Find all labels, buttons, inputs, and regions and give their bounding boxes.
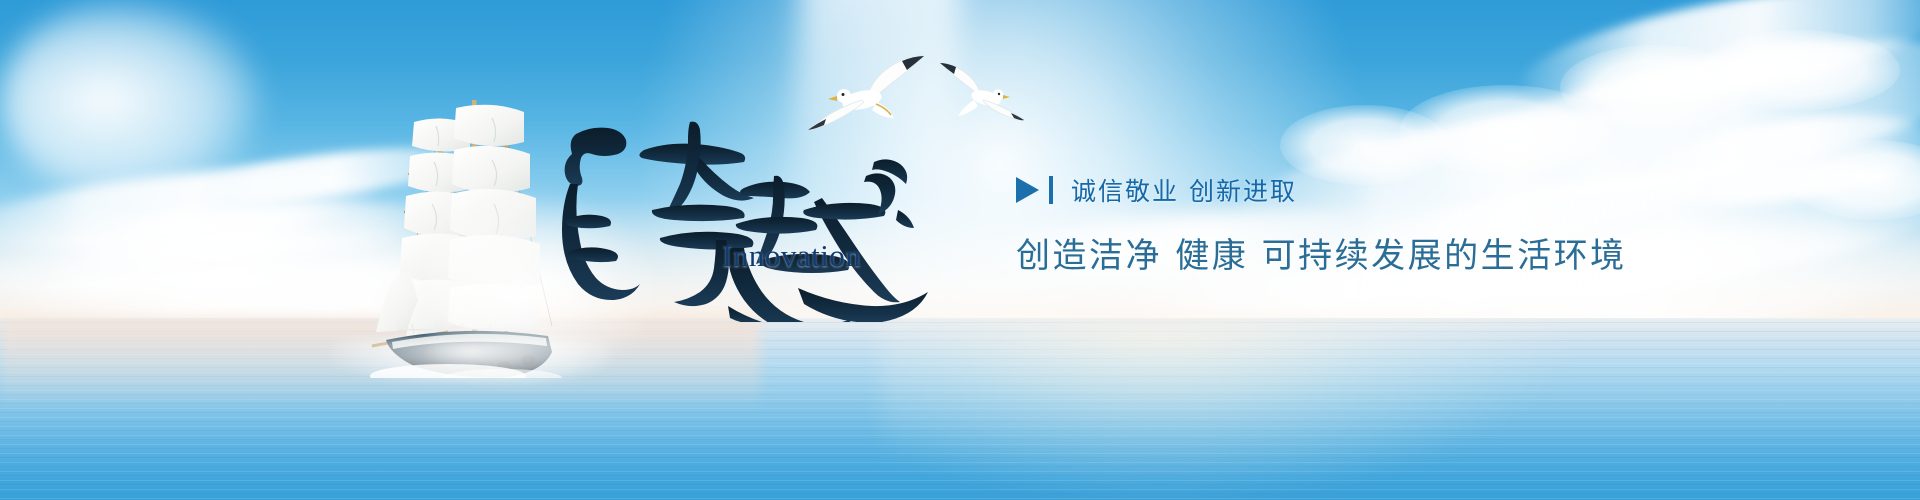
cloud-mass [0, 0, 260, 200]
calligraphy-char-kua [562, 122, 762, 306]
slogan-line-1: 诚信敬业 创新进取 [1016, 168, 1576, 212]
hero-banner: Innovation 诚信敬业 创新进取 创造洁净 健康 可持续发展的生活环境 [0, 0, 1920, 500]
vertical-bar-icon [1049, 176, 1053, 204]
slogan-primary-text: 诚信敬业 创新进取 [1071, 172, 1297, 208]
innovation-subtitle: Innovation [722, 238, 861, 274]
slogan-block: 诚信敬业 创新进取 创造洁净 健康 可持续发展的生活环境 [1016, 168, 1576, 277]
calligraphy-headline [548, 92, 968, 322]
play-triangle-icon [1016, 177, 1039, 203]
sea-sun-reflection [880, 320, 1580, 500]
slogan-secondary-text: 创造洁净 健康 可持续发展的生活环境 [1016, 228, 1576, 277]
